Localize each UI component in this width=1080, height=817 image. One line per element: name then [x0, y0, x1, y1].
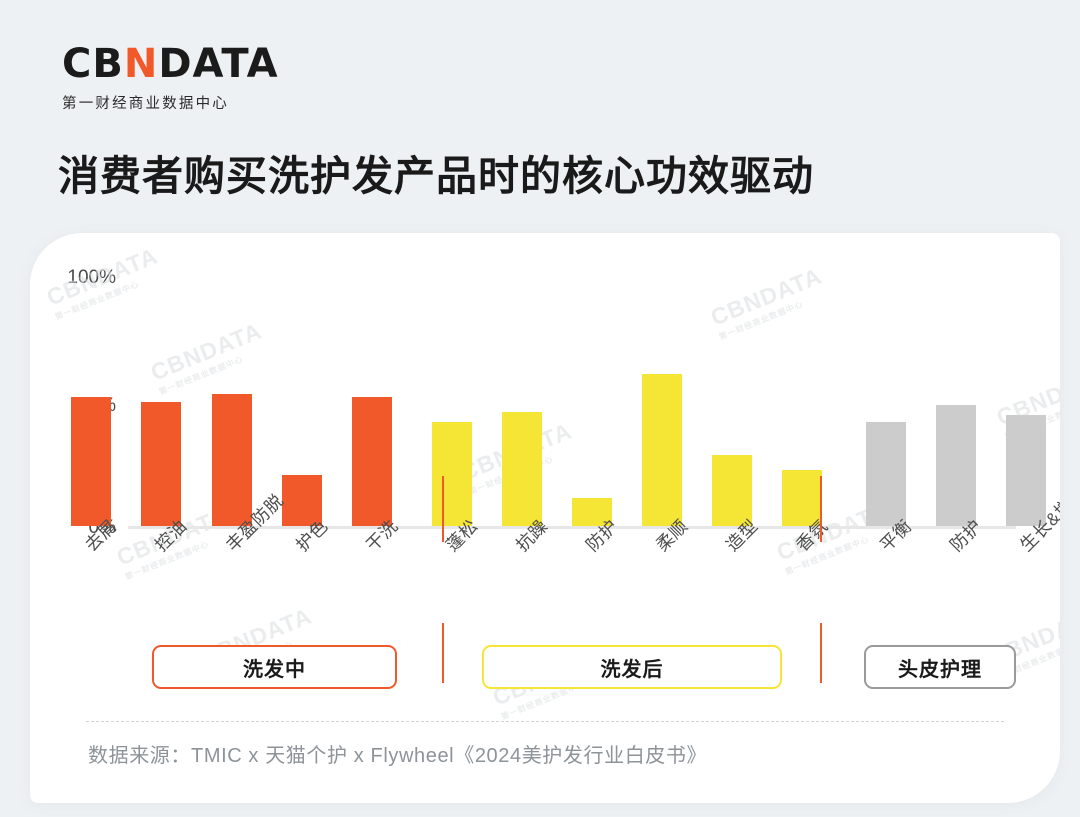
group-divider-1-lower: [442, 623, 444, 683]
chart-card: 100% 50% 0% CBNDATA第一财经商业数据中心 CBNDATA第一财…: [30, 233, 1060, 803]
footer-divider: [86, 721, 1004, 722]
source-note: 数据来源：TMIC x 天猫个护 x Flywheel《2024美护发行业白皮书…: [88, 739, 707, 768]
logo-subtitle: 第一财经商业数据中心: [62, 92, 279, 113]
logo-prefix: CB: [62, 44, 124, 84]
bar-chart: 100% 50% 0% CBNDATA第一财经商业数据中心 CBNDATA第一财…: [30, 233, 1060, 803]
brand-logo: CBNDATA 第一财经商业数据中心: [62, 44, 279, 113]
bar-平衡[interactable]: [866, 422, 906, 526]
bar-防护[interactable]: [936, 405, 976, 526]
bar-丰盈防脱[interactable]: [212, 394, 252, 526]
group-divider-2: [820, 476, 822, 542]
bar-柔顺[interactable]: [642, 374, 682, 526]
page-title: 消费者购买洗护发产品时的核心功效驱动: [58, 142, 814, 202]
bar-蓬松[interactable]: [432, 422, 472, 526]
group-pill-scalp-care[interactable]: 头皮护理: [864, 645, 1016, 689]
bar-控油[interactable]: [141, 402, 181, 526]
logo-suffix: DATA: [158, 44, 278, 84]
bar-干洗[interactable]: [352, 397, 392, 526]
y-tick-100: 100%: [44, 267, 116, 289]
bars-layer: [128, 273, 1016, 526]
logo-accent-letter: N: [124, 44, 158, 84]
group-pill-wash[interactable]: 洗发中: [152, 645, 397, 689]
bar-生长&增厚[interactable]: [1006, 415, 1046, 526]
bar-去屑[interactable]: [71, 397, 111, 526]
logo-wordmark: CBNDATA: [62, 44, 279, 84]
group-divider-2-lower: [820, 623, 822, 683]
group-pill-after-wash[interactable]: 洗发后: [482, 645, 782, 689]
bar-抗躁[interactable]: [502, 412, 542, 526]
group-divider-1: [442, 476, 444, 542]
